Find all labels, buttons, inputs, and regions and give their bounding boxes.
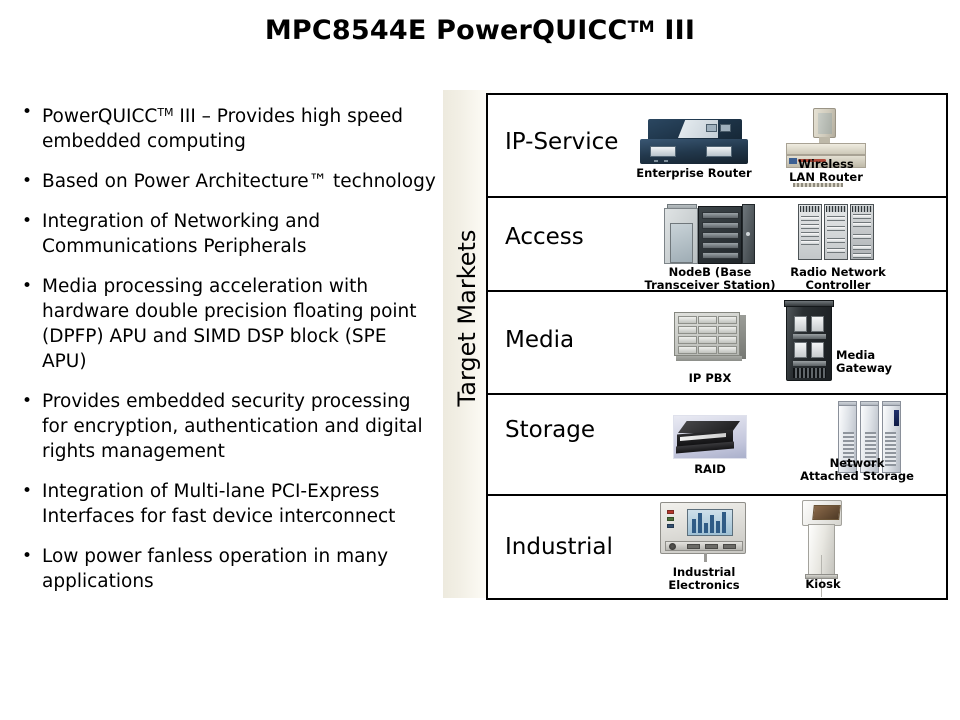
device-caption: Industrial Electronics — [636, 566, 772, 592]
slide-canvas: MPC8544E PowerQUICCTM III • PowerQUICCTM… — [0, 0, 960, 720]
list-item-text: PowerQUICCTM III – Provides high speed e… — [42, 100, 436, 154]
target-markets-table: IP-Service Enterprise Router — [486, 93, 948, 600]
table-row: Access NodeB (Base Transceiver Station) — [488, 198, 946, 292]
target-markets-axis-label: Target Markets — [447, 102, 487, 534]
list-item-text: Low power fanless operation in many appl… — [42, 544, 436, 594]
bullet-marker-icon: • — [16, 389, 42, 414]
trademark-superscript: TM — [628, 17, 655, 36]
list-item: • Provides embedded security processing … — [16, 389, 436, 464]
device-caption: Kiosk — [776, 578, 870, 591]
raid-array-image — [673, 415, 747, 459]
device-caption: Wireless LAN Router — [764, 158, 888, 184]
list-item: • Low power fanless operation in many ap… — [16, 544, 436, 594]
radio-network-controller-image — [798, 204, 874, 260]
bullet-marker-icon: • — [16, 274, 42, 299]
device-caption: Media Gateway — [836, 349, 926, 375]
list-item: • Integration of Multi-lane PCI-Express … — [16, 479, 436, 529]
table-row: Media — [488, 292, 946, 395]
feature-bullet-list: • PowerQUICCTM III – Provides high speed… — [16, 100, 436, 609]
device-caption: Enterprise Router — [614, 167, 774, 180]
table-row: Storage RAID — [488, 395, 946, 496]
bullet-marker-icon: • — [16, 100, 42, 125]
market-segment-label: Media — [505, 327, 574, 353]
market-segment-label: Access — [505, 224, 584, 250]
table-row: IP-Service Enterprise Router — [488, 95, 946, 198]
page-title: MPC8544E PowerQUICCTM III — [0, 15, 960, 46]
list-item: • Integration of Networking and Communic… — [16, 209, 436, 259]
market-segment-label: IP-Service — [505, 129, 618, 155]
bullet-marker-icon: • — [16, 169, 42, 194]
industrial-electronics-image — [660, 502, 746, 564]
market-segment-label: Storage — [505, 417, 595, 443]
list-item-text: Media processing acceleration with hardw… — [42, 274, 436, 374]
list-item-text: Based on Power Architecture™ technology — [42, 169, 436, 194]
market-segment-label: Industrial — [505, 534, 613, 560]
device-caption: Network Attached Storage — [764, 457, 946, 483]
list-item: • PowerQUICCTM III – Provides high speed… — [16, 100, 436, 154]
device-caption: NodeB (Base Transceiver Station) — [622, 266, 798, 292]
page-title-tail: III — [655, 15, 695, 46]
device-caption: IP PBX — [664, 372, 756, 385]
list-item-text: Provides embedded security processing fo… — [42, 389, 436, 464]
media-gateway-image — [786, 303, 832, 381]
list-item: • Based on Power Architecture™ technolog… — [16, 169, 436, 194]
list-item-text-pre: PowerQUICC — [42, 106, 157, 127]
trademark-superscript: TM — [157, 106, 173, 119]
table-row: Industrial — [488, 496, 946, 598]
kiosk-image — [798, 500, 846, 580]
list-item-text: Integration of Multi-lane PCI-Express In… — [42, 479, 436, 529]
list-item-text: Integration of Networking and Communicat… — [42, 209, 436, 259]
bullet-marker-icon: • — [16, 544, 42, 569]
bullet-marker-icon: • — [16, 479, 42, 504]
enterprise-router-image — [640, 119, 748, 165]
bullet-marker-icon: • — [16, 209, 42, 234]
page-title-main: MPC8544E PowerQUICC — [265, 15, 628, 46]
device-caption: RAID — [668, 463, 752, 476]
device-caption: Radio Network Controller — [776, 266, 900, 292]
ip-pbx-image — [674, 312, 746, 364]
nodeb-cabinet-image — [664, 204, 756, 266]
list-item: • Media processing acceleration with har… — [16, 274, 436, 374]
